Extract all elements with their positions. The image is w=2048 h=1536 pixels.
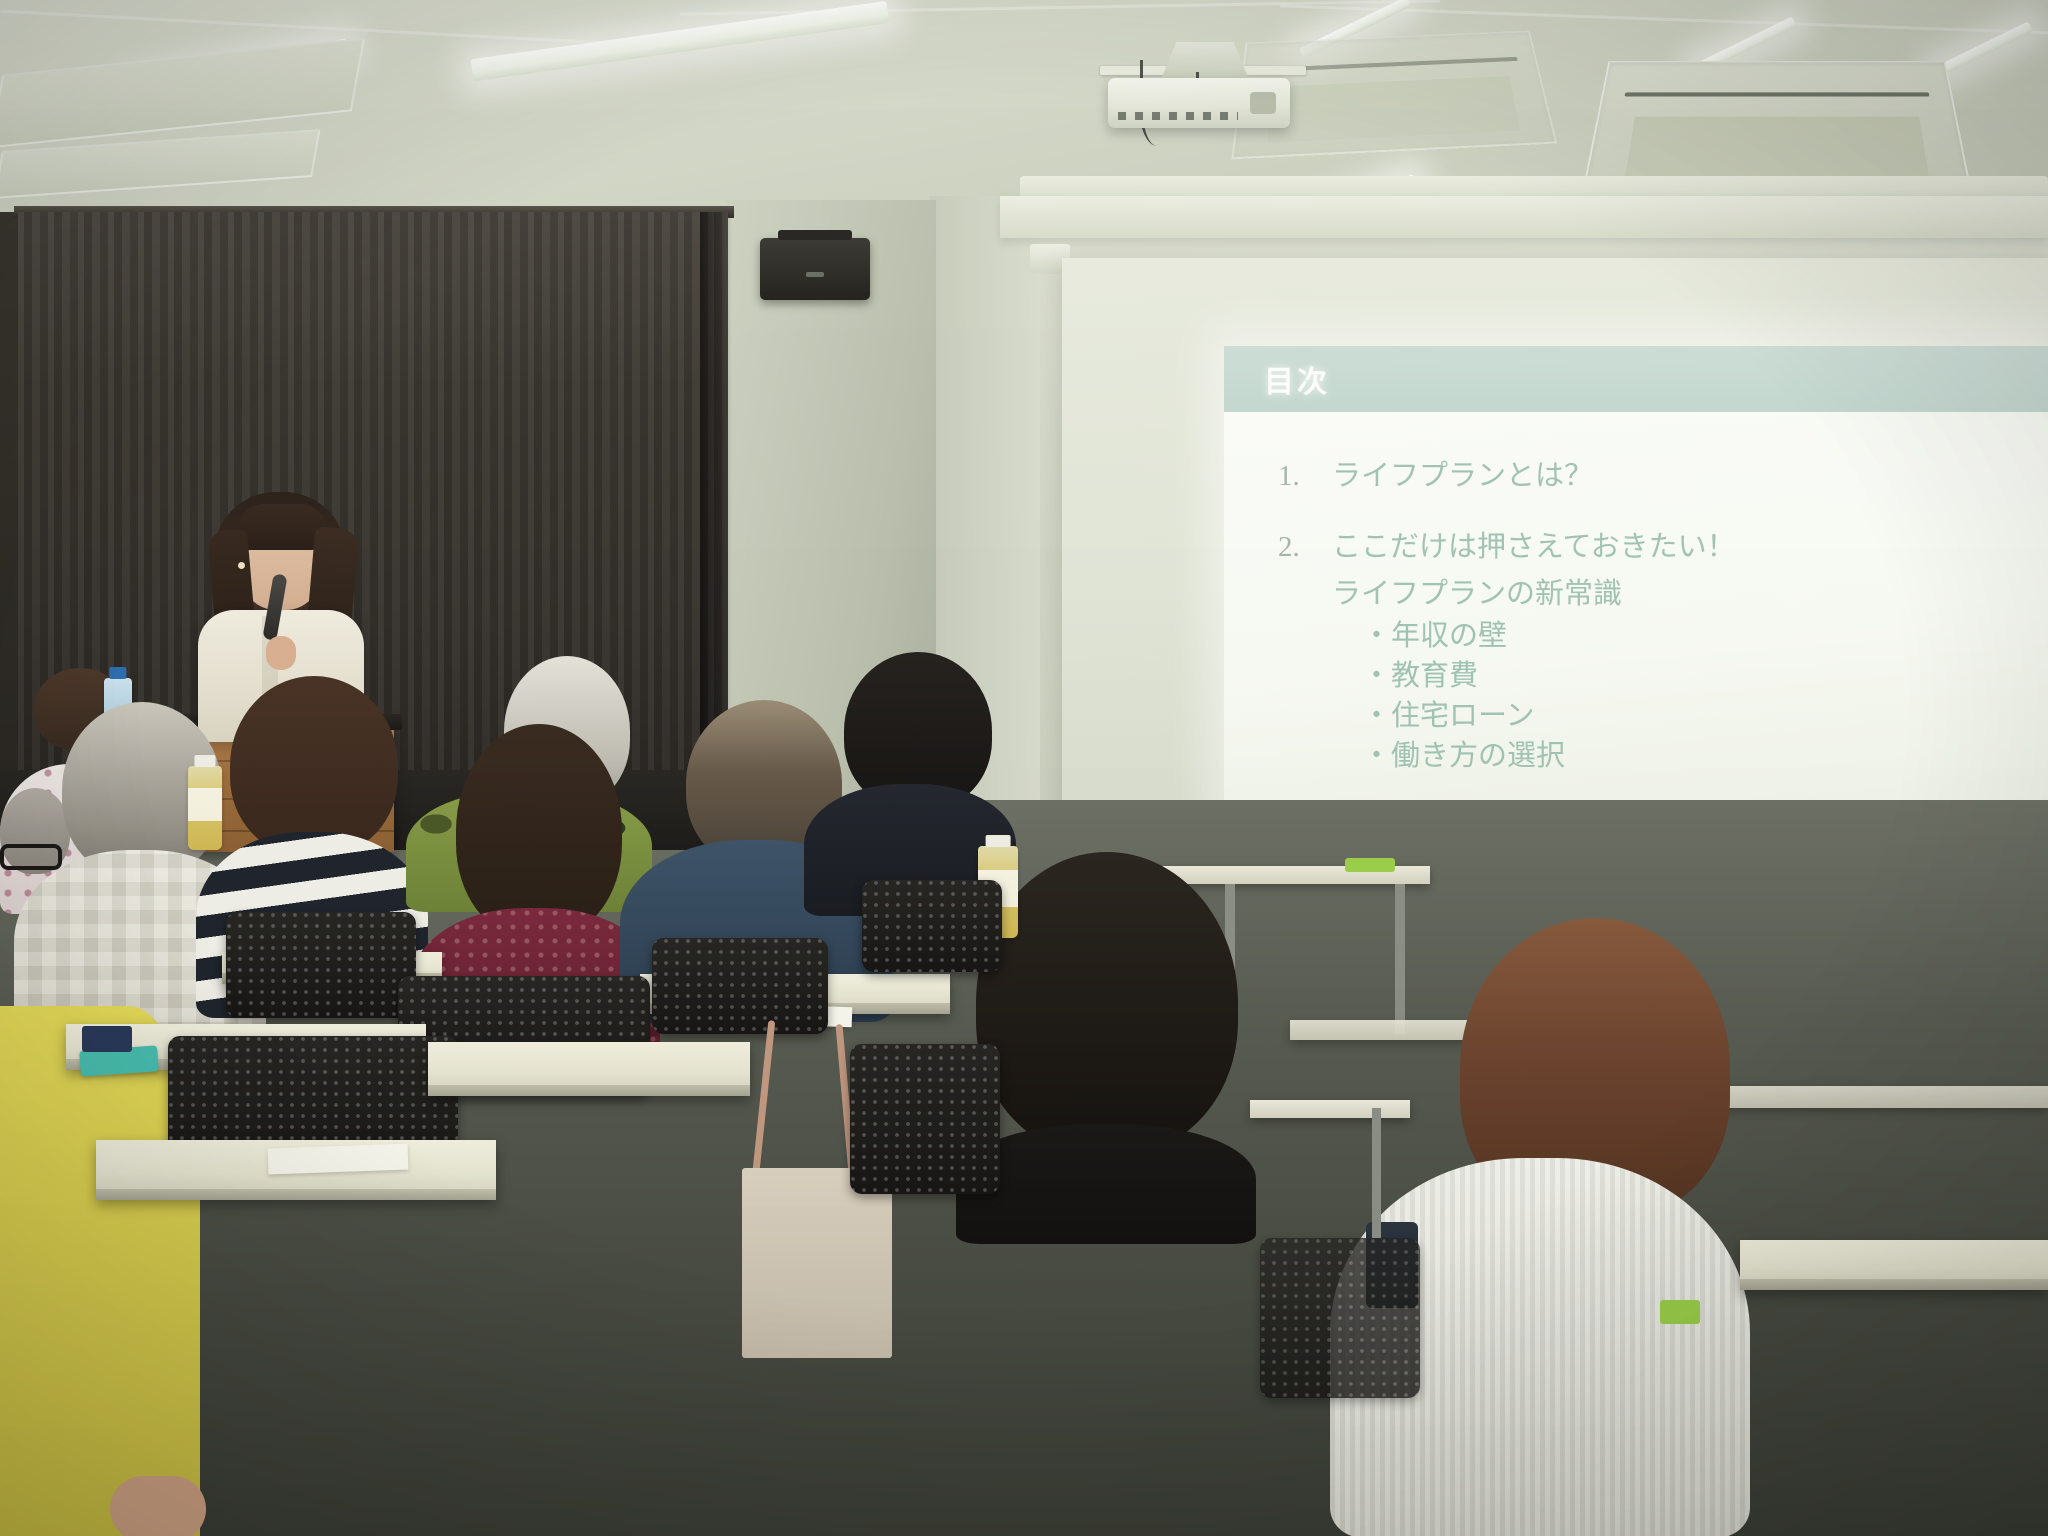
dark-item	[82, 1026, 132, 1052]
bottle-cap	[109, 667, 126, 679]
hand	[110, 1476, 206, 1536]
projection-screen: 目次 1. ライフプランとは？ 2. ここだけは押さえておきたい！ ライフプラン…	[1062, 258, 2048, 888]
desk-front-center	[428, 1042, 750, 1096]
chair-mid-left[interactable]	[226, 912, 416, 1018]
chair-rear-right[interactable]	[1260, 1238, 1420, 1398]
slide-spacer	[1278, 503, 2048, 527]
slide-item-text: ライフプランとは？	[1332, 456, 1593, 497]
desk-edge	[96, 1189, 496, 1200]
handout-papers	[268, 1144, 409, 1175]
presenter-earring	[238, 562, 245, 569]
slide-title: 目次	[1264, 357, 1330, 401]
vent-pan	[1267, 76, 1520, 143]
slide-item-1: 1. ライフプランとは？	[1278, 456, 2048, 497]
slide-bullet: ・働き方の選択	[1362, 736, 2048, 776]
chair-right[interactable]	[862, 880, 1002, 972]
slide-item-2: 2. ここだけは押さえておきたい！	[1278, 527, 2048, 568]
desk-edge	[1740, 1279, 2048, 1290]
bottle-cap	[194, 755, 215, 767]
bottle-cap	[986, 835, 1011, 847]
attendee-right-white-knit	[1330, 918, 1750, 1536]
speaker-bracket	[778, 230, 852, 240]
wall-speaker	[760, 238, 870, 300]
head	[456, 724, 622, 938]
desk-rear-mid	[1250, 1100, 1410, 1118]
desk-leg	[1372, 1108, 1381, 1238]
seminar-photo: 目次 1. ライフプランとは？ 2. ここだけは押さえておきたい！ ライフプラン…	[0, 0, 2048, 1536]
slide-spacer	[1278, 776, 2048, 800]
wall-soffit	[1000, 196, 2048, 238]
green-item	[1660, 1300, 1700, 1324]
chair-mid-right[interactable]	[652, 938, 828, 1034]
projector-lens	[1250, 92, 1276, 114]
slide-item-number: 1.	[1278, 456, 1332, 497]
slide-bullet: ・年収の壁	[1362, 616, 2048, 656]
tote-bag	[742, 1168, 892, 1358]
slide-header-band: 目次	[1224, 346, 2048, 412]
vent-slat	[1624, 93, 1930, 97]
slide-item-text: ここだけは押さえておきたい！	[1332, 527, 1736, 568]
slide-bullet-list: ・年収の壁 ・教育費 ・住宅ローン ・働き方の選択	[1362, 616, 2048, 776]
slide-bullet: ・教育費	[1362, 656, 2048, 696]
slide-subline: ライフプランの新常識	[1332, 574, 2048, 615]
speaker-led	[806, 272, 824, 277]
head	[230, 676, 398, 856]
desk-far-right	[1740, 1240, 2048, 1290]
bottle-label	[188, 788, 222, 822]
slide-bullet: ・住宅ローン	[1362, 696, 2048, 736]
shoulders	[956, 1124, 1256, 1244]
green-item	[1345, 858, 1395, 872]
projector-ports	[1118, 112, 1238, 120]
water-bottle-left	[188, 766, 222, 850]
chair-bag-side[interactable]	[850, 1044, 1000, 1194]
ceiling-projector	[1108, 78, 1290, 128]
desk-edge	[428, 1085, 750, 1096]
projected-slide: 目次 1. ライフプランとは？ 2. ここだけは押さえておきたい！ ライフプラン…	[1224, 346, 2048, 858]
slide-item-number: 2.	[1278, 527, 1332, 568]
slide-body: 1. ライフプランとは？ 2. ここだけは押さえておきたい！ ライフプランの新常…	[1224, 412, 2048, 842]
presenter-hand	[266, 636, 296, 670]
